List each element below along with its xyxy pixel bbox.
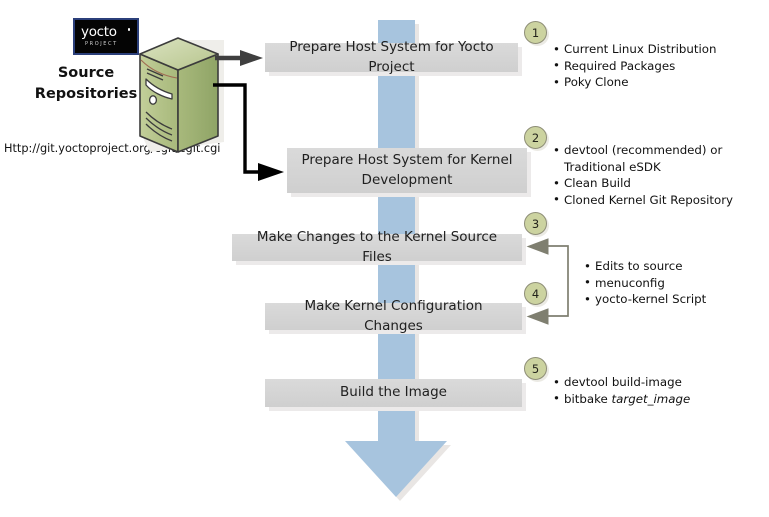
process-box-step-5[interactable]: Build the Image: [265, 379, 522, 407]
source-repositories-label: Source Repositories: [10, 63, 162, 105]
bullet-item-bitbake-cmd: bitbake: [564, 392, 612, 406]
bullet-list-step-2: devtool (recommended) or Traditional eSD…: [553, 142, 733, 208]
bullet-item: menuconfig: [584, 275, 706, 292]
logo-wordmark: yocto: [81, 25, 117, 39]
step-badge-4: 4: [524, 282, 547, 305]
logo-dot-icon: [128, 28, 131, 31]
arrow-source-to-step-1: [215, 50, 263, 66]
bullet-item: Poky Clone: [553, 74, 716, 91]
logo-subtext: PROJECT: [85, 41, 118, 47]
process-box-step-3-label: Make Changes to the Kernel Source Files: [242, 228, 512, 267]
step-badge-1: 1: [524, 21, 547, 44]
bullet-list-step-1: Current Linux Distribution Required Pack…: [553, 41, 716, 91]
process-box-step-1-label: Prepare Host System for Yocto Project: [275, 38, 508, 77]
step-badge-2: 2: [524, 126, 547, 149]
step-badge-1-number: 1: [532, 26, 539, 40]
bullet-list-step-5: devtool build-image bitbake target_image: [553, 374, 690, 407]
bullet-item-bitbake: bitbake target_image: [553, 391, 690, 408]
bullet-list-steps-3-4: Edits to source menuconfig yocto-kernel …: [584, 258, 706, 308]
step-badge-4-number: 4: [532, 287, 539, 301]
arrow-source-to-step-2: [213, 85, 284, 181]
process-box-step-3[interactable]: Make Changes to the Kernel Source Files: [232, 234, 522, 261]
step-badge-5-number: 5: [532, 362, 539, 376]
source-label-line1: Source: [10, 63, 162, 84]
step-badge-2-number: 2: [532, 131, 539, 145]
bullet-item: yocto-kernel Script: [584, 291, 706, 308]
source-repository-url: Http://git.yoctoproject.org/cgit/cgit.cg…: [4, 142, 220, 155]
bullet-item-continuation: Traditional eSDK: [553, 159, 733, 176]
process-box-step-4[interactable]: Make Kernel Configuration Changes: [265, 303, 522, 330]
bullet-item: Edits to source: [584, 258, 706, 275]
yocto-project-logo: yocto PROJECT: [73, 18, 139, 55]
bullet-item: Required Packages: [553, 58, 716, 75]
bullet-item: Cloned Kernel Git Repository: [553, 192, 733, 209]
step-badge-3-number: 3: [532, 217, 539, 231]
step-badge-5: 5: [524, 357, 547, 380]
bullet-item: Clean Build: [553, 175, 733, 192]
bullet-item: Current Linux Distribution: [553, 41, 716, 58]
process-box-step-2[interactable]: Prepare Host System for Kernel Developme…: [287, 148, 527, 193]
bullet-item-bitbake-target: target_image: [612, 392, 691, 406]
source-label-line2: Repositories: [10, 84, 162, 105]
process-box-step-2-label-line2: Development: [362, 171, 453, 191]
bullet-item: devtool build-image: [553, 374, 690, 391]
bullet-item: devtool (recommended) or: [553, 142, 733, 159]
process-box-step-5-label: Build the Image: [340, 383, 447, 403]
flow-arrow-head: [345, 441, 447, 497]
process-box-step-1[interactable]: Prepare Host System for Yocto Project: [265, 43, 518, 72]
diagram-canvas: yocto PROJECT Source Repositories Http:/…: [0, 0, 769, 517]
process-box-step-2-label-line1: Prepare Host System for Kernel: [301, 151, 512, 171]
step-badge-3: 3: [524, 212, 547, 235]
process-box-step-4-label: Make Kernel Configuration Changes: [275, 297, 512, 336]
